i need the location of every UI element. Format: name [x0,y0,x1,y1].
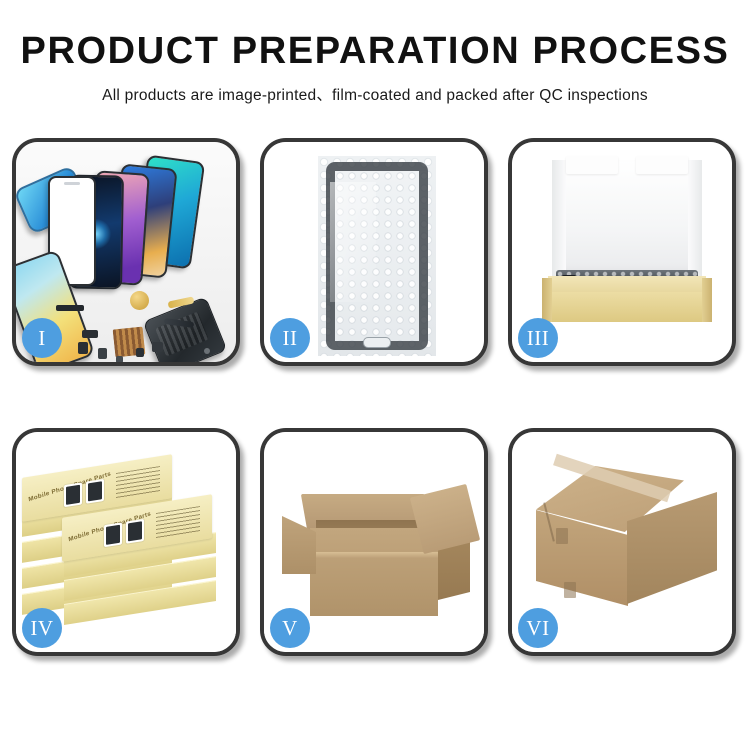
step-badge-6: VI [518,608,558,648]
step-badge-5: V [270,608,310,648]
step-badge-2: II [270,318,310,358]
carton-tab-lower [564,582,576,598]
kraft-box-right-flap [702,278,712,322]
earpiece-mesh-part [56,305,84,311]
small-part-d [152,342,163,352]
step-badge-3: III [518,318,558,358]
small-part-c [98,348,107,359]
step-panel-5: V [260,428,488,656]
page-title: PRODUCT PREPARATION PROCESS [0,32,750,72]
small-part-b [78,342,88,354]
phone-screen-frame [326,162,428,350]
box-artwork-back-1 [64,482,82,507]
step-panel-1: I [12,138,240,366]
foam-tab-right [636,156,688,174]
step-badge-4: IV [22,608,62,648]
box-artwork-front-1 [104,522,122,547]
box-speclist-back [116,466,160,499]
page-subtitle: All products are image-printed、film-coat… [0,83,750,105]
step-panel-2: II [260,138,488,366]
carton-front-panel [310,528,438,616]
screw-part-2 [204,348,210,354]
box-speclist-front [156,506,200,539]
foam-tab-left [566,156,618,174]
carton-tab-upper [556,528,568,544]
step-panel-4: Mobile Phone Spare Parts Mobile Phone Sp… [12,428,240,656]
product-preparation-infographic: PRODUCT PREPARATION PROCESS All products… [0,0,750,750]
foam-liner-right [688,160,702,278]
foam-liner-left [552,160,566,278]
header: PRODUCT PREPARATION PROCESS All products… [0,0,750,105]
box-artwork-back-2 [86,479,104,504]
step-badge-1: I [22,318,62,358]
kraft-box-front [548,292,706,322]
foam-liner [552,160,702,278]
phone-chassis [143,296,228,362]
small-part-e [136,348,144,357]
small-part-a [82,330,98,338]
screw-part [116,356,123,362]
box-artwork-front-2 [126,519,144,544]
carton-front-lip [310,552,438,558]
vibration-motor-part [130,291,149,310]
step-panel-6: VI [508,428,736,656]
kraft-box-left-flap [542,278,552,322]
step-panel-3: III [508,138,736,366]
steps-grid: I II III [12,138,738,656]
